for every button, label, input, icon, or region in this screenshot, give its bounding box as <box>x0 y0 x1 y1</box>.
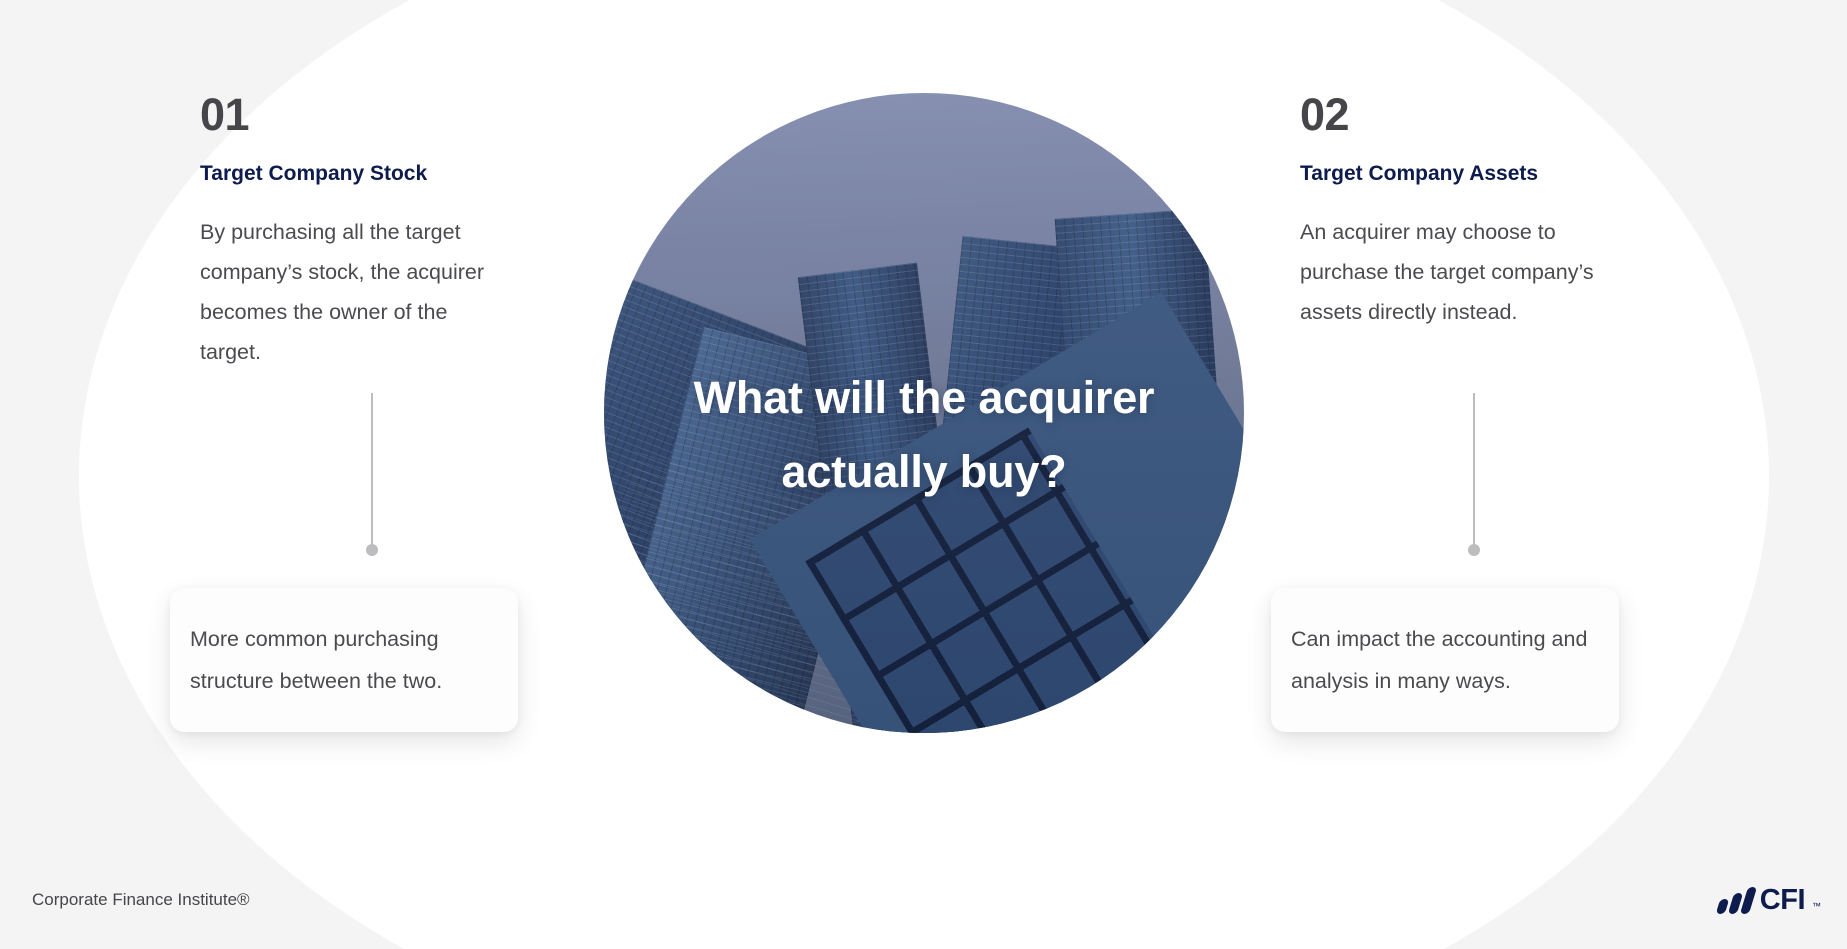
center-circle-image: What will the acquirer actually buy? <box>604 93 1244 733</box>
callout-card-02-text: Can impact the accounting and analysis i… <box>1291 618 1599 702</box>
cfi-logo-bars-icon <box>1718 886 1753 914</box>
center-title-line-2: actually buy? <box>782 446 1067 497</box>
center-title: What will the acquirer actually buy? <box>604 361 1244 509</box>
callout-card-01: More common purchasing structure between… <box>170 588 518 732</box>
callout-card-02: Can impact the accounting and analysis i… <box>1271 588 1619 732</box>
column-02-subtitle: Target Company Assets <box>1300 161 1630 186</box>
cfi-logo-bar-1 <box>1715 899 1729 914</box>
cfi-logo-wordmark: CFI <box>1760 887 1805 914</box>
column-02-body: An acquirer may choose to purchase the t… <box>1300 212 1600 332</box>
column-02-number: 02 <box>1300 92 1630 137</box>
connector-dot-02 <box>1468 544 1480 556</box>
column-01-body: By purchasing all the target company’s s… <box>200 212 500 372</box>
column-02: 02 Target Company Assets An acquirer may… <box>1300 92 1630 332</box>
column-01-number: 01 <box>200 92 530 137</box>
cfi-logo-trademark: ™ <box>1812 902 1821 914</box>
center-title-line-1: What will the acquirer <box>694 372 1155 423</box>
callout-card-01-text: More common purchasing structure between… <box>190 618 498 702</box>
connector-line-02 <box>1473 393 1475 545</box>
slide: 01 Target Company Stock By purchasing al… <box>0 0 1847 949</box>
connector-line-01 <box>371 393 373 545</box>
column-01-subtitle: Target Company Stock <box>200 161 530 186</box>
footer-attribution: Corporate Finance Institute® <box>32 890 250 910</box>
cfi-logo: CFI ™ <box>1718 886 1821 914</box>
connector-dot-01 <box>366 544 378 556</box>
cfi-logo-bar-3 <box>1740 887 1757 914</box>
column-01: 01 Target Company Stock By purchasing al… <box>200 92 530 372</box>
